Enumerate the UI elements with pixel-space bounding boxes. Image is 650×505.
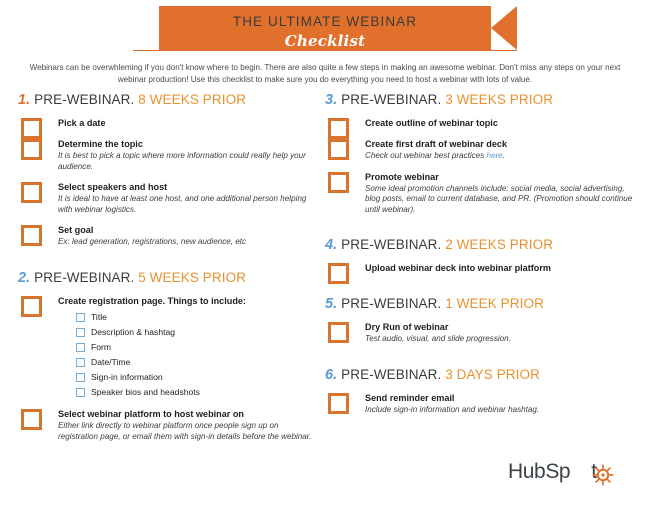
section-spacer: [325, 354, 635, 367]
checklist-item-title: Create registration page. Things to incl…: [58, 295, 318, 307]
checklist-subitem-label: Title: [91, 312, 107, 322]
best-practices-link[interactable]: here: [486, 151, 502, 160]
checklist-section: 1. PRE-WEBINAR. 8 WEEKS PRIORPick a date…: [18, 92, 318, 270]
checklist-item-description: Some ideal promotion channels include: s…: [365, 184, 635, 216]
banner-subtitle: Checklist: [133, 32, 517, 50]
checklist-item-title: Create outline of webinar topic: [365, 117, 635, 129]
checklist-subitem-label: Speaker bios and headshots: [91, 387, 200, 397]
checklist-item: Promote webinarSome ideal promotion chan…: [325, 171, 635, 216]
right-column: 3. PRE-WEBINAR. 3 WEEKS PRIORCreate outl…: [325, 92, 635, 437]
section-label: PRE-WEBINAR.: [337, 296, 445, 311]
checklist-subitem-label: Description & hashtag: [91, 327, 175, 337]
checklist-item-title: Pick a date: [58, 117, 318, 129]
checklist-item: Pick a date: [18, 117, 318, 129]
checklist-item-title: Dry Run of webinar: [365, 321, 635, 333]
checkbox[interactable]: [328, 263, 349, 284]
checkbox[interactable]: [21, 296, 42, 317]
section-heading: 5. PRE-WEBINAR. 1 WEEK PRIOR: [325, 296, 635, 312]
hubspot-logo: HubSpt: [508, 460, 628, 488]
checklist-section: 3. PRE-WEBINAR. 3 WEEKS PRIORCreate outl…: [325, 92, 635, 237]
sub-checkbox[interactable]: [76, 388, 85, 397]
section-label: PRE-WEBINAR.: [337, 237, 445, 252]
checklist-item-title: Promote webinar: [365, 171, 635, 183]
checklist-item-title: Set goal: [58, 224, 318, 236]
section-timeframe: 8 WEEKS PRIOR: [138, 92, 246, 107]
left-column: 1. PRE-WEBINAR. 8 WEEKS PRIORPick a date…: [18, 92, 318, 464]
checklist-section: 2. PRE-WEBINAR. 5 WEEKS PRIORCreate regi…: [18, 270, 318, 465]
intro-paragraph: Webinars can be overwhleming if you don'…: [22, 62, 628, 86]
section-spacer: [18, 257, 318, 270]
checklist-item-title: Upload webinar deck into webinar platfor…: [365, 262, 635, 274]
checklist-item: Set goalEx: lead generation, registratio…: [18, 224, 318, 248]
checklist-item-title: Select webinar platform to host webinar …: [58, 408, 318, 420]
sub-checkbox[interactable]: [76, 343, 85, 352]
checklist-subitem: Speaker bios and headshots: [76, 386, 318, 400]
checklist-sublist: TitleDescription & hashtagFormDate/TimeS…: [76, 311, 318, 400]
checklist-item: Send reminder emailInclude sign-in infor…: [325, 392, 635, 416]
section-heading: 3. PRE-WEBINAR. 3 WEEKS PRIOR: [325, 92, 635, 108]
checklist-item: Select webinar platform to host webinar …: [18, 408, 318, 442]
checklist-item: Select speakers and hostIt is ideal to h…: [18, 181, 318, 215]
sub-checkbox[interactable]: [76, 328, 85, 337]
sub-checkbox[interactable]: [76, 358, 85, 367]
section-label: PRE-WEBINAR.: [337, 367, 445, 382]
section-heading: 2. PRE-WEBINAR. 5 WEEKS PRIOR: [18, 270, 318, 286]
checkbox[interactable]: [328, 322, 349, 343]
section-label: PRE-WEBINAR.: [30, 270, 138, 285]
checklist-subitem-label: Form: [91, 342, 111, 352]
checkbox[interactable]: [328, 393, 349, 414]
checklist-item-title: Determine the topic: [58, 138, 318, 150]
section-number: 5.: [325, 296, 337, 312]
checklist-subitem-label: Date/Time: [91, 357, 130, 367]
section-heading: 1. PRE-WEBINAR. 8 WEEKS PRIOR: [18, 92, 318, 108]
section-spacer: [325, 283, 635, 296]
checklist-item-description: Either link directly to webinar platform…: [58, 421, 318, 442]
section-timeframe: 2 WEEKS PRIOR: [445, 237, 553, 252]
checkbox[interactable]: [21, 182, 42, 203]
checklist-item: Dry Run of webinarTest audio, visual, an…: [325, 321, 635, 345]
checklist-item-description: Include sign-in information and webinar …: [365, 405, 635, 416]
checklist-section: 5. PRE-WEBINAR. 1 WEEK PRIORDry Run of w…: [325, 296, 635, 367]
checklist-item-title: Send reminder email: [365, 392, 635, 404]
checklist-subitem: Title: [76, 311, 318, 325]
section-number: 2.: [18, 270, 30, 286]
checklist-item: Create outline of webinar topic: [325, 117, 635, 129]
section-number: 3.: [325, 92, 337, 108]
checklist-item-description: It is best to pick a topic where more in…: [58, 151, 318, 172]
section-timeframe: 5 WEEKS PRIOR: [138, 270, 246, 285]
checklist-item: Create registration page. Things to incl…: [18, 295, 318, 400]
checklist-subitem-label: Sign-in information: [91, 372, 163, 382]
checklist-section: 4. PRE-WEBINAR. 2 WEEKS PRIORUpload webi…: [325, 237, 635, 296]
checkbox[interactable]: [21, 118, 42, 139]
checkbox[interactable]: [328, 118, 349, 139]
section-number: 4.: [325, 237, 337, 253]
checklist-item: Determine the topicIt is best to pick a …: [18, 138, 318, 172]
hubspot-sprocket-icon: [592, 464, 614, 486]
section-label: PRE-WEBINAR.: [337, 92, 445, 107]
section-timeframe: 3 WEEKS PRIOR: [445, 92, 553, 107]
section-spacer: [325, 424, 635, 437]
checklist-subitem: Sign-in information: [76, 371, 318, 385]
checklist-subitem: Date/Time: [76, 356, 318, 370]
sub-checkbox[interactable]: [76, 313, 85, 322]
header-banner: THE ULTIMATE WEBINAR Checklist: [0, 6, 650, 52]
section-spacer: [325, 224, 635, 237]
checklist-item-description: Test audio, visual, and slide progressio…: [365, 334, 635, 345]
section-heading: 4. PRE-WEBINAR. 2 WEEKS PRIOR: [325, 237, 635, 253]
checklist-item-title: Create first draft of webinar deck: [365, 138, 635, 150]
sub-checkbox[interactable]: [76, 373, 85, 382]
checklist-item-title: Select speakers and host: [58, 181, 318, 193]
checklist-item-description: It is ideal to have at least one host, a…: [58, 194, 318, 215]
section-number: 1.: [18, 92, 30, 108]
checklist-subitem: Description & hashtag: [76, 326, 318, 340]
section-label: PRE-WEBINAR.: [30, 92, 138, 107]
checkbox[interactable]: [21, 409, 42, 430]
section-heading: 6. PRE-WEBINAR. 3 DAYS PRIOR: [325, 367, 635, 383]
section-timeframe: 3 DAYS PRIOR: [445, 367, 540, 382]
checkbox[interactable]: [21, 139, 42, 160]
checklist-section: 6. PRE-WEBINAR. 3 DAYS PRIORSend reminde…: [325, 367, 635, 438]
banner-title: THE ULTIMATE WEBINAR: [133, 14, 517, 29]
section-number: 6.: [325, 367, 337, 383]
hubspot-wordmark: HubSpt: [508, 460, 597, 484]
logo-text-before: HubSp: [508, 460, 570, 483]
checkbox[interactable]: [328, 139, 349, 160]
checklist-item: Upload webinar deck into webinar platfor…: [325, 262, 635, 274]
checklist-item: Create first draft of webinar deckCheck …: [325, 138, 635, 162]
checklist-item-description: Ex: lead generation, registrations, new …: [58, 237, 318, 248]
section-timeframe: 1 WEEK PRIOR: [445, 296, 544, 311]
checkbox[interactable]: [21, 225, 42, 246]
checklist-subitem: Form: [76, 341, 318, 355]
checkbox[interactable]: [328, 172, 349, 193]
section-spacer: [18, 451, 318, 464]
checklist-item-description: Check out webinar best practices here.: [365, 151, 635, 162]
